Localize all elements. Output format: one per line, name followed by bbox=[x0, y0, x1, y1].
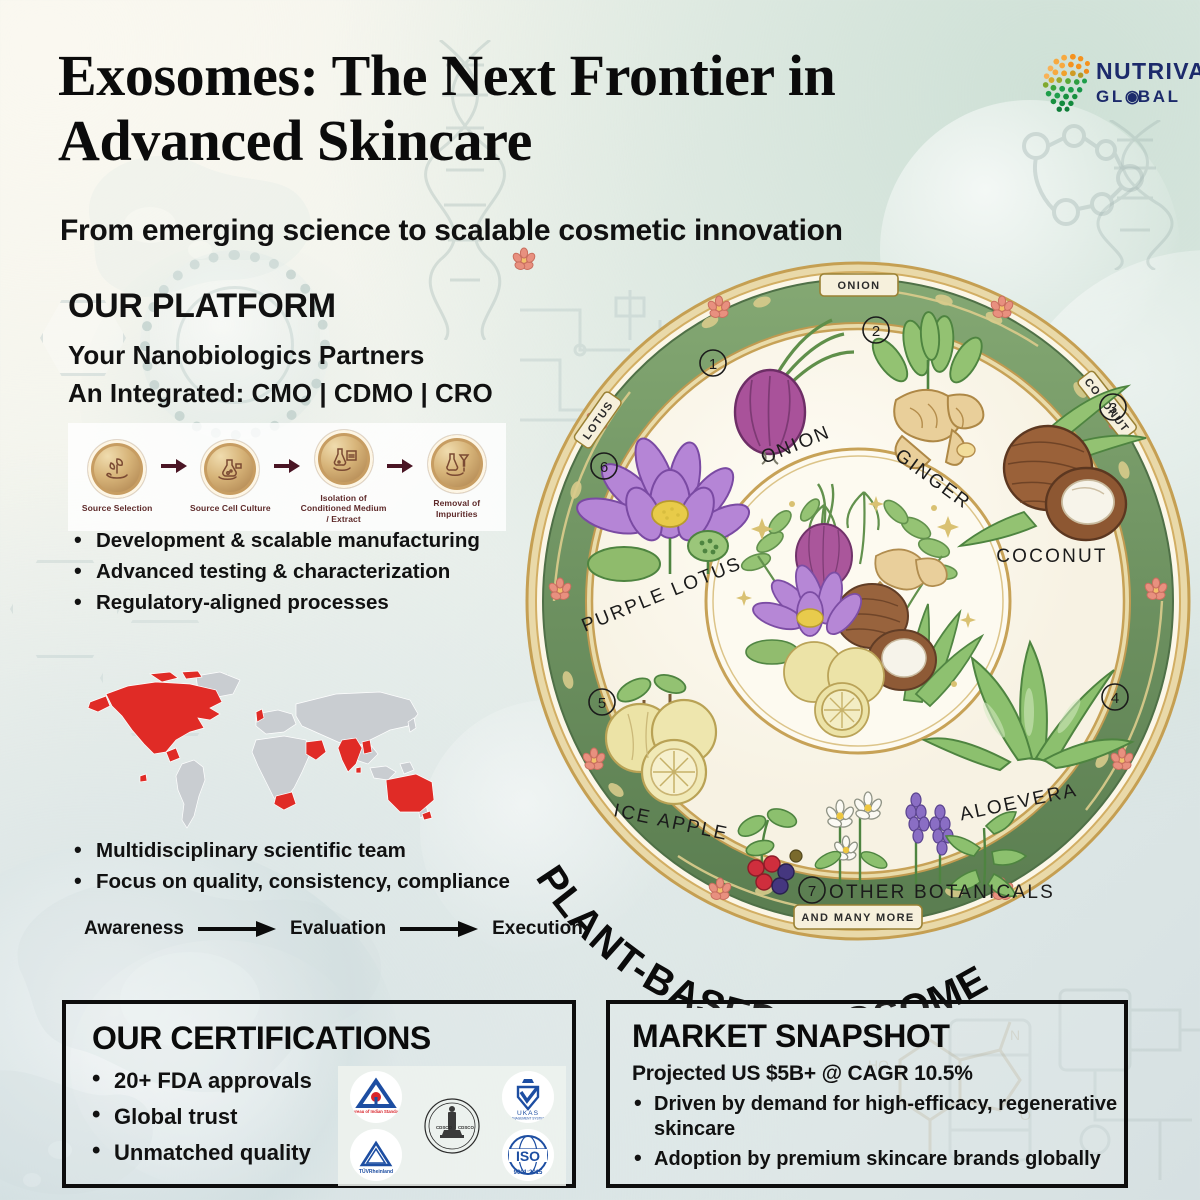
arrow-right-icon bbox=[160, 458, 187, 474]
svg-text:MANAGEMENT SYSTEMS: MANAGEMENT SYSTEMS bbox=[509, 1117, 548, 1121]
market-snapshot-panel: MARKET SNAPSHOT Projected US $5B+ @ CAGR… bbox=[606, 1000, 1128, 1188]
ukas-logo: UKAS MANAGEMENT SYSTEMS bbox=[502, 1071, 554, 1123]
platform-subtitle-1: Your Nanobiologics Partners bbox=[68, 340, 424, 371]
list-item: 20+ FDA approvals bbox=[84, 1068, 354, 1094]
svg-text:AND MANY MORE: AND MANY MORE bbox=[801, 912, 914, 924]
svg-text:1: 1 bbox=[709, 356, 717, 373]
certifications-panel: OUR CERTIFICATIONS 20+ FDA approvals Glo… bbox=[62, 1000, 576, 1188]
process-step: Source Cell Culture bbox=[187, 440, 273, 513]
svg-text:3: 3 bbox=[1109, 400, 1117, 417]
svg-text:9001:2015: 9001:2015 bbox=[514, 1170, 543, 1176]
svg-text:Bureau of Indian Standard: Bureau of Indian Standard bbox=[352, 1109, 400, 1114]
svg-text:TÜVRheinland: TÜVRheinland bbox=[359, 1168, 393, 1175]
platform-section-title: OUR PLATFORM bbox=[68, 287, 336, 326]
page-subtitle: From emerging science to scalable cosmet… bbox=[60, 214, 1020, 248]
leaf-in-hand-icon bbox=[88, 440, 146, 498]
svg-text:ONION: ONION bbox=[837, 280, 880, 292]
svg-text:7: 7 bbox=[808, 883, 816, 900]
arrow-right-icon bbox=[400, 920, 478, 938]
globe-icon bbox=[1034, 48, 1102, 116]
svg-text:2: 2 bbox=[872, 323, 880, 340]
customer-journey-funnel: Awareness Evaluation Execution bbox=[84, 918, 583, 940]
plant-based-exosome-sources-plate: ONION COCONUT LOTUS AND MANY MORE bbox=[524, 260, 1192, 942]
svg-text:CDSCO: CDSCO bbox=[458, 1125, 474, 1130]
arrow-right-icon bbox=[387, 458, 414, 474]
svg-text:ISO: ISO bbox=[516, 1148, 540, 1164]
process-flow-diagram: Source Selection Source Cell Culture Iso… bbox=[68, 423, 506, 531]
flask-culture-icon bbox=[201, 440, 259, 498]
svg-text:COCONUT: COCONUT bbox=[996, 546, 1107, 567]
svg-text:OTHER BOTANICALS: OTHER BOTANICALS bbox=[829, 882, 1055, 903]
process-step: Source Selection bbox=[74, 440, 160, 513]
nutriva-global-logo: NUTRIVA GL◉BAL bbox=[1032, 44, 1188, 124]
list-item: Advanced testing & characterization bbox=[70, 559, 490, 585]
platform-subtitle-2: An Integrated: CMO | CDMO | CRO bbox=[68, 378, 493, 409]
list-item: Focus on quality, consistency, complianc… bbox=[70, 869, 550, 895]
platform-bullets-bottom: Multidisciplinary scientific team Focus … bbox=[70, 838, 550, 900]
list-item: Development & scalable manufacturing bbox=[70, 528, 490, 554]
arrow-right-icon bbox=[198, 920, 276, 938]
process-step-label: Removal of Impurities bbox=[414, 498, 500, 518]
funnel-step-evaluation: Evaluation bbox=[290, 918, 386, 940]
filtration-icon bbox=[428, 435, 486, 493]
list-item: Global trust bbox=[84, 1104, 354, 1130]
platform-bullets-top: Development & scalable manufacturing Adv… bbox=[70, 528, 490, 622]
process-step-label: Source Cell Culture bbox=[187, 503, 273, 513]
svg-text:5: 5 bbox=[598, 695, 606, 712]
market-title: MARKET SNAPSHOT bbox=[632, 1018, 950, 1055]
list-item: Regulatory-aligned processes bbox=[70, 590, 490, 616]
market-kpi: Projected US $5B+ @ CAGR 10.5% bbox=[632, 1062, 973, 1086]
molecule-icon bbox=[1010, 120, 1170, 250]
market-bullets: Driven by demand for high-efficacy, rege… bbox=[624, 1092, 1118, 1177]
bis-logo: Bureau of Indian Standard bbox=[350, 1071, 402, 1123]
logo-name-primary: NUTRIVA bbox=[1096, 60, 1200, 83]
process-step-label: Source Selection bbox=[74, 503, 160, 513]
svg-text:4: 4 bbox=[1111, 690, 1119, 707]
world-presence-map bbox=[70, 668, 540, 843]
list-item: Unmatched quality bbox=[84, 1140, 354, 1166]
list-item: Multidisciplinary scientific team bbox=[70, 838, 550, 864]
logo-name-secondary: GL◉BAL bbox=[1096, 88, 1200, 105]
arrow-right-icon bbox=[274, 458, 301, 474]
certification-logos: Bureau of Indian Standard TÜVRheinland bbox=[338, 1066, 566, 1186]
isolation-flask-icon bbox=[315, 430, 373, 488]
svg-text:CDSCO: CDSCO bbox=[436, 1125, 452, 1130]
iso-logo: ISO 9001:2015 bbox=[502, 1129, 554, 1181]
certifications-bullets: 20+ FDA approvals Global trust Unmatched… bbox=[84, 1068, 354, 1176]
page-title: Exosomes: The Next Frontier in Advanced … bbox=[58, 44, 988, 174]
funnel-step-awareness: Awareness bbox=[84, 918, 184, 940]
certifications-title: OUR CERTIFICATIONS bbox=[92, 1020, 431, 1057]
ring-label-and-many-more: AND MANY MORE bbox=[794, 905, 922, 929]
process-step-label: Isolation of Conditioned Medium / Extrac… bbox=[300, 493, 386, 523]
svg-text:6: 6 bbox=[600, 459, 608, 476]
ring-label-onion: ONION bbox=[820, 274, 898, 296]
dna-helix-icon bbox=[1090, 120, 1180, 270]
process-step: Removal of Impurities bbox=[414, 435, 500, 518]
list-item: Driven by demand for high-efficacy, rege… bbox=[624, 1092, 1118, 1142]
list-item: Adoption by premium skincare brands glob… bbox=[624, 1147, 1118, 1172]
cdsco-logo: CDSCO CDSCO bbox=[421, 1095, 483, 1157]
process-step: Isolation of Conditioned Medium / Extrac… bbox=[300, 430, 386, 523]
tuv-rheinland-logo: TÜVRheinland bbox=[350, 1129, 402, 1181]
